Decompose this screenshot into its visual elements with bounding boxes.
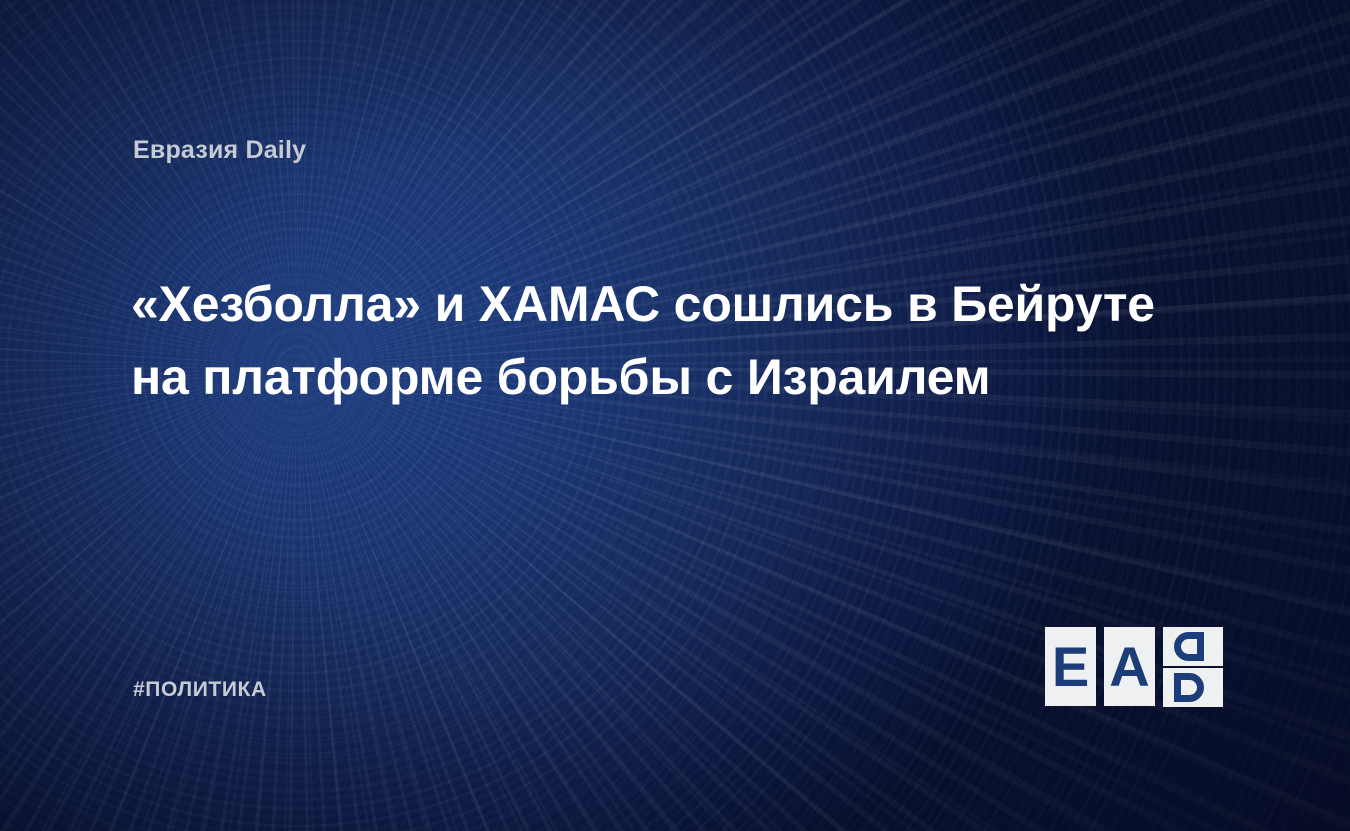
- logo-d-glyph-lower: [1174, 673, 1204, 702]
- card-content: Евразия Daily «Хезболла» и ХАМАС сошлись…: [0, 0, 1350, 831]
- category-tag-politics[interactable]: #ПОЛИТИКА: [133, 678, 267, 702]
- logo-cell-lower: [1163, 668, 1223, 707]
- news-share-card: Евразия Daily «Хезболла» и ХАМАС сошлись…: [0, 0, 1350, 831]
- logo-tile-e: E: [1045, 627, 1096, 706]
- headline-line-1: «Хезболла» и ХАМАС сошлись в Бейруте: [131, 268, 1241, 341]
- headline-line-2: на платформе борьбы с Израилем: [131, 341, 1241, 414]
- publication-brand: Евразия Daily: [133, 136, 306, 165]
- page-title: «Хезболла» и ХАМАС сошлись в Бейруте на …: [131, 268, 1241, 414]
- logo-tile-a: A: [1104, 627, 1155, 706]
- eadaily-logo[interactable]: E A: [1045, 627, 1223, 707]
- logo-cell-upper: [1163, 627, 1223, 666]
- logo-mark-d: [1163, 627, 1223, 707]
- logo-d-glyph-upper: [1174, 632, 1204, 661]
